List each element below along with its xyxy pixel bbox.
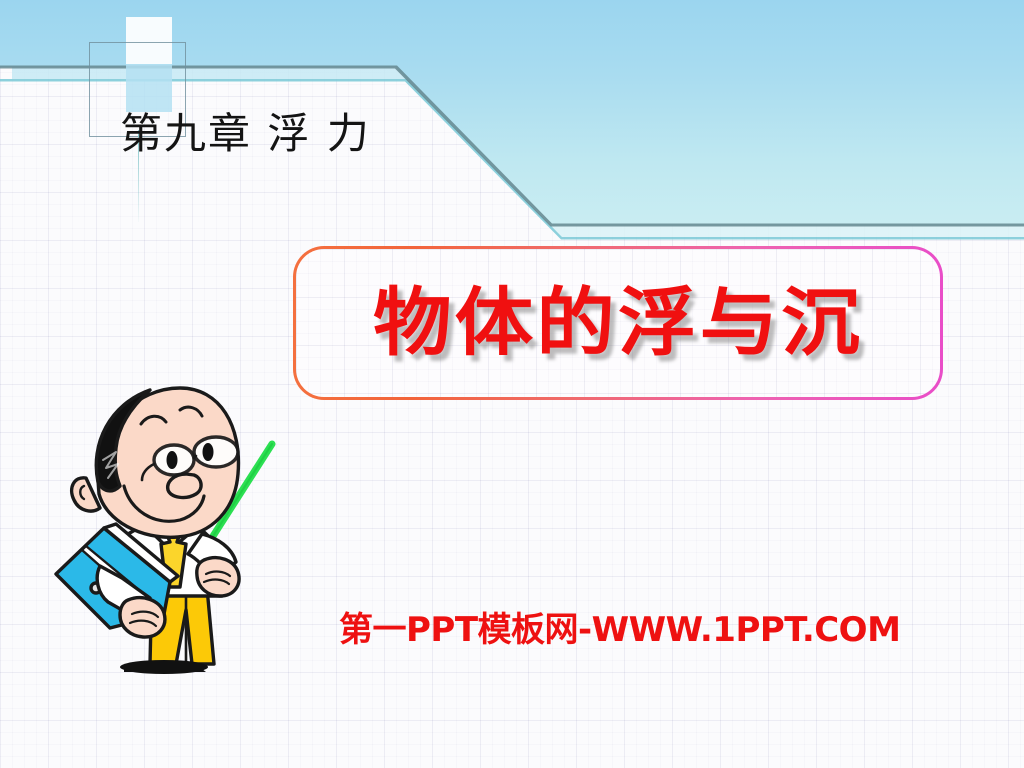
chapter-heading: 第九章 浮 力: [120, 112, 371, 156]
title-box: 物体的浮与沉: [290, 243, 946, 403]
title-box-inner: 物体的浮与沉: [293, 246, 943, 400]
teacher-svg: [46, 382, 296, 674]
cartoon-teacher-illustration: [46, 382, 296, 674]
page-title: 物体的浮与沉: [373, 286, 863, 360]
slide-canvas: 第九章 浮 力 物体的浮与沉: [0, 0, 1024, 768]
watermark-text: 第一PPT模板网-WWW.1PPT.COM: [339, 602, 900, 651]
